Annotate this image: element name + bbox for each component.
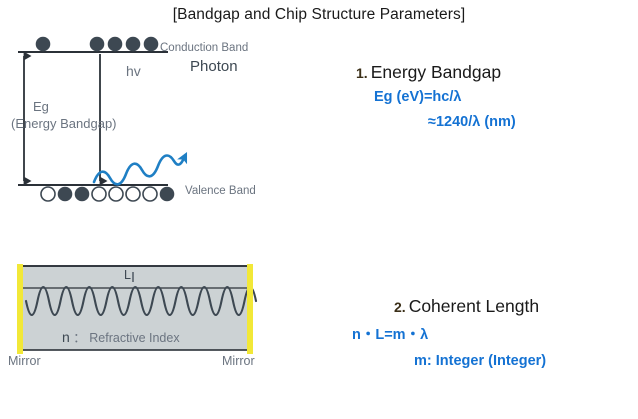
valence-band-label: Valence Band (185, 185, 256, 197)
refractive-index-text: ： Refractive Index (73, 331, 179, 345)
mirror-left (17, 264, 23, 354)
diagram-canvas: [Bandgap and Chip Structure Parameters] (0, 0, 638, 419)
bandgap-formula-primary: Eg (eV)=hc/λ (374, 89, 638, 105)
photon-wave (94, 156, 183, 185)
eg-label: Eg (Energy Bandgap) (33, 98, 117, 132)
section-2-heading: 2.Coherent Length (394, 296, 638, 317)
conduction-carriers (36, 37, 159, 52)
coherent-formula-integer: m: Integer (Integer) (414, 353, 638, 369)
eg-label-line2: (Energy Bandgap) (11, 115, 117, 132)
hv-label: hv (126, 63, 141, 79)
cavity-length-label: L (124, 268, 131, 282)
photon-label: Photon (190, 58, 238, 75)
coherent-formula-primary: n・L=m・λ (352, 323, 638, 344)
eg-label-line1: Eg (33, 99, 49, 114)
refractive-index-label: n ： Refractive Index (62, 327, 180, 346)
mirror-left-label: Mirror (8, 354, 41, 368)
section-1-heading: 1.Energy Bandgap (356, 62, 638, 83)
section-coherent-length: 2.Coherent Length n・L=m・λ m: Integer (In… (352, 296, 638, 369)
conduction-band-label: Conduction Band (160, 42, 248, 54)
section-energy-bandgap: 1.Energy Bandgap Eg (eV)=hc/λ ≈1240/λ (n… (352, 62, 638, 130)
refractive-index-symbol: n (62, 329, 70, 345)
page-title: [Bandgap and Chip Structure Parameters] (0, 6, 638, 24)
mirror-right-label: Mirror (222, 354, 255, 368)
valence-carriers (41, 187, 174, 202)
section-2-number: 2. (394, 299, 406, 315)
band-diagram: Conduction Band Valence Band hv Photon E… (0, 30, 330, 215)
section-2-title: Coherent Length (409, 296, 539, 316)
chip-structure-diagram: L n ： Refractive Index Mirror Mirror (0, 258, 330, 378)
bandgap-formula-approx: ≈1240/λ (nm) (428, 114, 638, 130)
mirror-right (247, 264, 253, 354)
section-1-number: 1. (356, 65, 368, 81)
section-1-title: Energy Bandgap (371, 62, 501, 82)
